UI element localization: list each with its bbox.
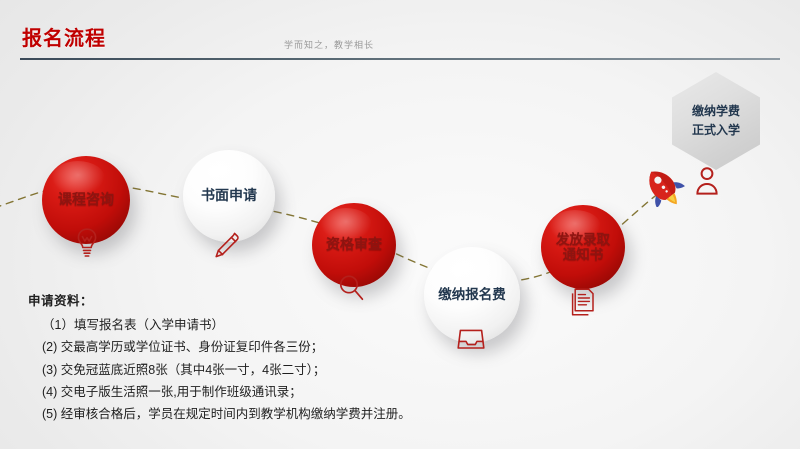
requirements-title: 申请资料： [28,290,498,309]
requirement-item-3: (3) 交免冠蓝底近照8张（其中4张一寸，4张二寸）； [28,359,498,381]
pencil-icon [210,228,242,262]
final-hexagon-label: 缴纳学费 正式入学 [692,102,740,139]
requirements-block: 申请资料： （1）填写报名表（入学申请书） (2) 交最高学历或学位证书、身份证… [28,290,498,425]
requirement-item-4: (4) 交电子版生活照一张,用于制作班级通讯录； [28,381,498,403]
final-hexagon-node[interactable]: 缴纳学费 正式入学 [672,72,760,170]
page-title: 报名流程 [22,22,106,51]
slide-canvas: 报名流程 学而知之，教学相长 课程咨询 书面申请 [0,0,800,449]
step-circle-5[interactable]: 发放录取 通知书 [541,205,625,289]
requirement-item-5: (5) 经审核合格后，学员在规定时间内到教学机构缴纳学费并注册。 [28,403,498,425]
document-icon [570,286,598,318]
step-label-5-line1: 发放录取 [556,232,610,247]
step-label-5: 发放录取 通知书 [556,232,610,262]
slide-header: 报名流程 学而知之，教学相长 [0,0,800,62]
rocket-icon [642,163,690,207]
final-label-line2: 正式入学 [692,123,740,137]
lightbulb-icon [72,226,102,260]
step-label-5-line2: 通知书 [563,247,604,262]
requirement-item-1: （1）填写报名表（入学申请书） [28,314,498,336]
header-divider [20,58,780,60]
final-label-line1: 缴纳学费 [692,104,740,118]
step-label-3: 资格审查 [326,237,382,253]
page-subtitle: 学而知之，教学相长 [284,38,374,51]
step-label-2: 书面申请 [201,188,257,204]
step-label-4: 缴纳报名费 [438,287,506,302]
step-label-1: 课程咨询 [58,192,114,208]
requirement-item-2: (2) 交最高学历或学位证书、身份证复印件各三份； [28,336,498,358]
